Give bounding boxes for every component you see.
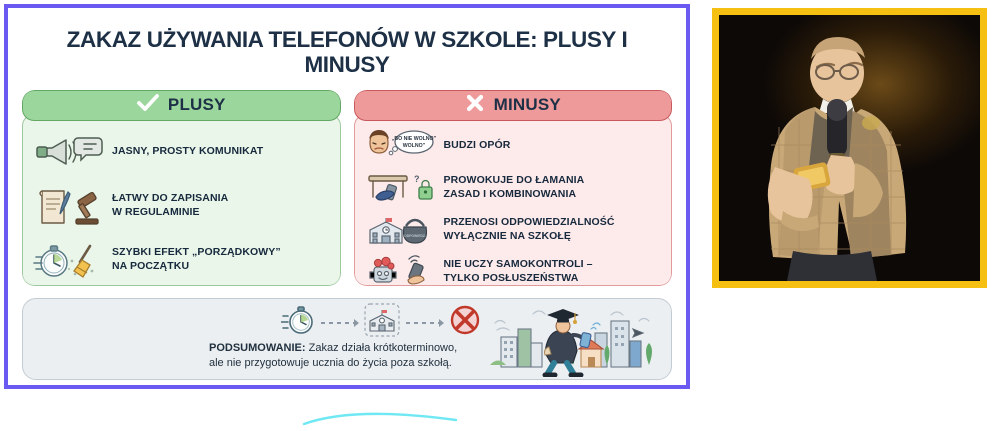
flow-arrow-2 bbox=[406, 322, 443, 324]
plus-item-label: JASNY, PROSTY KOMUNIKAT bbox=[112, 145, 263, 158]
hand-phone-under-desk-lock-icon: ? bbox=[364, 171, 436, 205]
scroll-quill-gavel-icon bbox=[32, 186, 104, 226]
plus-column-body: JASNY, PROSTY KOMUNIKAT bbox=[22, 114, 341, 286]
flow-arrow-1 bbox=[321, 322, 358, 324]
svg-text:ODPOWIEDZ.: ODPOWIEDZ. bbox=[404, 234, 426, 238]
page-title: ZAKAZ UŻYWANIA TELEFONÓW W SZKOLE: PLUSY… bbox=[22, 28, 672, 78]
summary-flow bbox=[281, 305, 481, 341]
list-item: NIE UCZY SAMOKONTROLI – TYLKO POSŁUSZEŃS… bbox=[364, 253, 663, 286]
school-building-weight-icon: ODPOWIEDZ. bbox=[364, 213, 436, 247]
plus-item-label: SZYBKI EFEKT „PORZĄDKOWY” NA POCZĄTKU bbox=[112, 246, 281, 273]
bottom-decoration-arc bbox=[300, 404, 460, 426]
plus-column-header: PLUSY bbox=[22, 90, 341, 121]
robot-hand-phone-icon bbox=[364, 255, 436, 286]
minus-item-label: PROWOKUJE DO ŁAMANIA ZASAD I KOMBINOWANI… bbox=[444, 174, 585, 201]
angry-face-thought-bubble-icon: „BO NIE WOLNO” WOLNO” bbox=[364, 129, 436, 163]
stopwatch-icon bbox=[281, 303, 315, 342]
summary-text: PODSUMOWANIE: Zakaz działa krótkotermino… bbox=[209, 341, 529, 371]
plus-column-label: PLUSY bbox=[168, 95, 226, 115]
plus-column: PLUSY bbox=[22, 90, 341, 286]
minus-item-label: PRZENOSI ODPOWIEDZIALNOŚĆ WYŁĄCZNIE NA S… bbox=[444, 216, 615, 243]
list-item: ODPOWIEDZ. PRZENOSI ODPOWIEDZIALNOŚĆ WYŁ… bbox=[364, 211, 663, 249]
minus-column: MINUSY bbox=[354, 90, 673, 286]
summary-line-1: Zakaz działa krótkoterminowo, bbox=[306, 342, 458, 354]
slide-frame: ZAKAZ UŻYWANIA TELEFONÓW W SZKOLE: PLUSY… bbox=[4, 4, 690, 389]
svg-text:WOLNO”: WOLNO” bbox=[402, 143, 425, 149]
red-cross-circle-icon bbox=[449, 304, 481, 341]
speaker-photo bbox=[712, 8, 987, 288]
graduate-walking-city-illustration bbox=[487, 303, 663, 377]
minus-column-header: MINUSY bbox=[354, 90, 673, 121]
summary-line-2: ale nie przygotowuje ucznia do życia poz… bbox=[209, 357, 452, 369]
list-item: SZYBKI EFEKT „PORZĄDKOWY” NA POCZĄTKU bbox=[32, 235, 331, 285]
stopwatch-broom-icon bbox=[32, 240, 104, 280]
list-item: ? PROWOKUJE DO ŁAMANIA ZASAD I KOMBINOWA… bbox=[364, 169, 663, 207]
check-icon bbox=[137, 93, 159, 118]
plus-item-label: ŁATWY DO ZAPISANIA W REGULAMINIE bbox=[112, 192, 228, 219]
list-item: „BO NIE WOLNO” WOLNO” BUDZI OPÓR bbox=[364, 127, 663, 165]
minus-column-label: MINUSY bbox=[494, 95, 561, 115]
speaker-figure bbox=[719, 15, 980, 281]
cross-icon bbox=[465, 93, 485, 118]
school-icon bbox=[364, 303, 400, 342]
thought-bubble-line1: „BO NIE WOLNO” bbox=[391, 136, 435, 142]
list-item: JASNY, PROSTY KOMUNIKAT bbox=[32, 127, 331, 177]
summary-bar: PODSUMOWANIE: Zakaz działa krótkotermino… bbox=[22, 298, 672, 380]
minus-column-body: „BO NIE WOLNO” WOLNO” BUDZI OPÓR bbox=[354, 114, 673, 286]
comparison-columns: PLUSY bbox=[22, 90, 672, 286]
svg-text:?: ? bbox=[414, 174, 420, 184]
summary-label: PODSUMOWANIE: bbox=[209, 342, 306, 354]
minus-item-label: NIE UCZY SAMOKONTROLI – TYLKO POSŁUSZEŃS… bbox=[444, 258, 593, 285]
megaphone-speech-bubble-icon bbox=[32, 132, 104, 172]
minus-item-label: BUDZI OPÓR bbox=[444, 139, 511, 152]
list-item: ŁATWY DO ZAPISANIA W REGULAMINIE bbox=[32, 181, 331, 231]
